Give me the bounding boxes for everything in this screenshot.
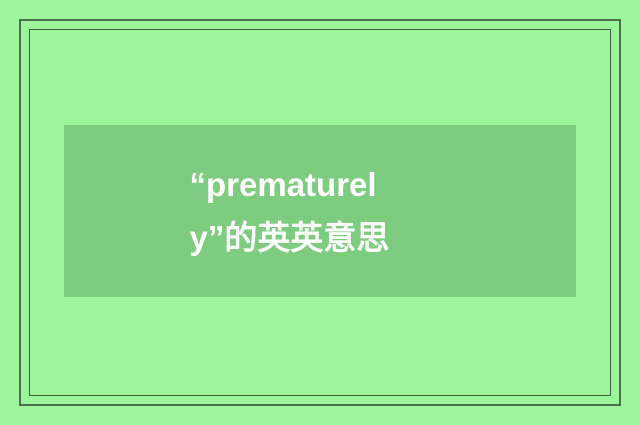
content-card: “prematurely”的英英意思 [64, 125, 576, 297]
page-root: “prematurely”的英英意思 [0, 0, 640, 425]
page-title: “prematurely”的英英意思 [190, 158, 405, 265]
content-card-text-wrap: “prematurely”的英英意思 [64, 125, 576, 297]
